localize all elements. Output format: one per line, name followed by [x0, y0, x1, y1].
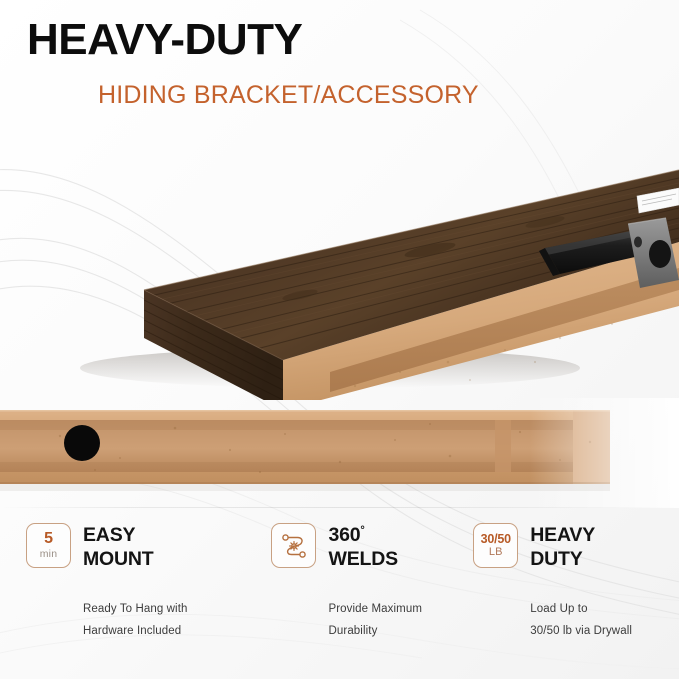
feature-title-line-1: EASY [83, 524, 154, 548]
page-title: HEAVY-DUTY [27, 16, 302, 64]
badge-unit: LB [489, 547, 503, 558]
cross-section-image [0, 398, 679, 508]
feature-welds: 360° WELDS Provide Maximum Durability [271, 523, 473, 679]
feature-title: HEAVY DUTY [530, 523, 595, 572]
feature-title-line-2: MOUNT [83, 548, 154, 572]
hero-product-image [0, 110, 679, 400]
bracket-plate-hole-small [634, 237, 642, 248]
feature-title-line-1: 360° [328, 524, 397, 548]
feature-title: EASY MOUNT [83, 523, 154, 572]
feature-desc-line-2: 30/50 lb via Drywall [530, 620, 679, 642]
feature-title-value: 360 [328, 524, 360, 546]
badge-load-capacity: 30/50 LB [473, 523, 518, 568]
feature-description: Ready To Hang with Hardware Included [83, 598, 271, 643]
badge-unit: min [40, 549, 58, 560]
feature-desc-line-2: Durability [328, 620, 473, 642]
feature-desc-line-2: Hardware Included [83, 620, 271, 642]
feature-description: Load Up to 30/50 lb via Drywall [530, 598, 679, 643]
product-infographic-page: HEAVY-DUTY HIDING BRACKET/ACCESSORY [0, 0, 679, 679]
feature-title: 360° WELDS [328, 523, 397, 572]
badge-value: 5 [44, 531, 53, 547]
weld-path-icon [279, 531, 309, 561]
section-divider [0, 507, 679, 508]
feature-header: 360° WELDS [271, 523, 473, 572]
features-row: 5 min EASY MOUNT Ready To Hang with Hard… [0, 523, 679, 679]
badge-weld-icon-frame [271, 523, 316, 568]
feature-desc-line-1: Load Up to [530, 598, 679, 620]
degree-symbol: ° [360, 525, 364, 537]
feature-heavy-duty: 30/50 LB HEAVY DUTY Load Up to 30/50 lb … [473, 523, 679, 679]
page-subtitle: HIDING BRACKET/ACCESSORY [98, 81, 479, 110]
feature-header: 30/50 LB HEAVY DUTY [473, 523, 679, 572]
badge-5-min: 5 min [26, 523, 71, 568]
feature-desc-line-1: Provide Maximum [328, 598, 473, 620]
feature-title-line-2: WELDS [328, 548, 397, 572]
feature-header: 5 min EASY MOUNT [26, 523, 271, 572]
badge-value: 30/50 [481, 533, 511, 546]
feature-desc-line-1: Ready To Hang with [83, 598, 271, 620]
feature-title-line-2: DUTY [530, 548, 595, 572]
feature-easy-mount: 5 min EASY MOUNT Ready To Hang with Hard… [0, 523, 271, 679]
bracket-plate-hole-large [649, 240, 671, 268]
feature-title-line-1: HEAVY [530, 524, 595, 548]
feature-description: Provide Maximum Durability [328, 598, 473, 643]
